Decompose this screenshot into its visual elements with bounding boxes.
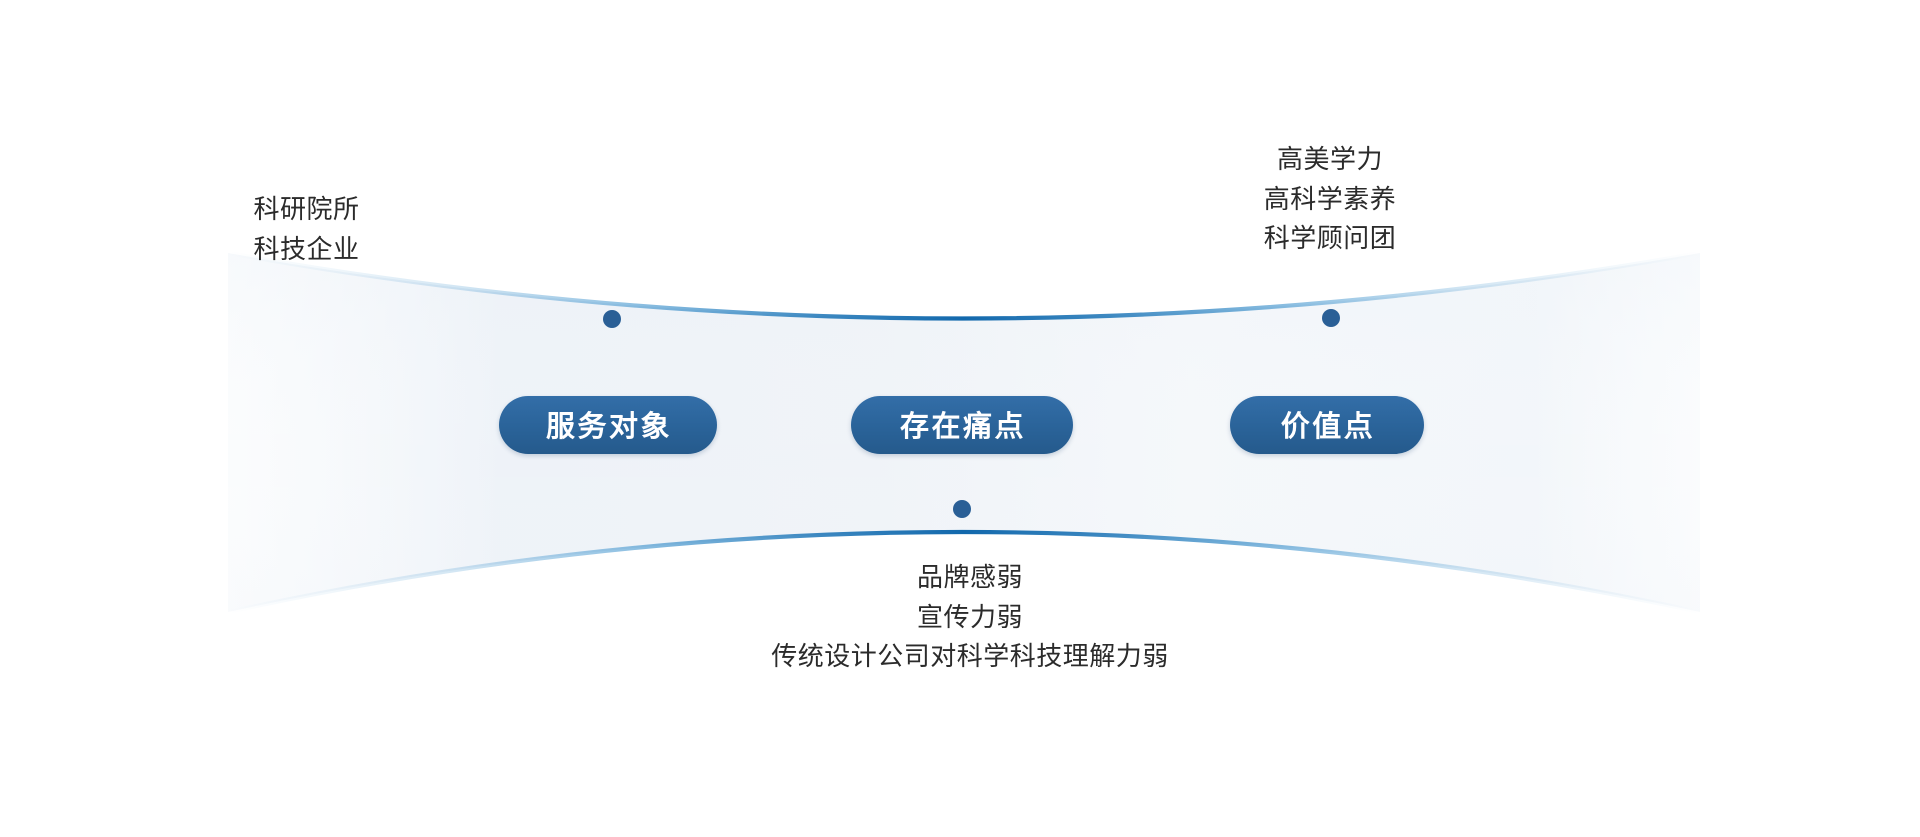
pill-button-service[interactable]: 服务对象 — [499, 396, 717, 454]
pill-value-label: 价值点 — [1279, 403, 1376, 445]
service-label-line-1: 科研院所 — [0, 190, 613, 230]
pain-label-line-3: 传统设计公司对科学科技理解力弱 — [580, 637, 1360, 677]
label-group-pain: 品牌感弱 宣传力弱 传统设计公司对科学科技理解力弱 — [580, 558, 1360, 677]
label-group-service: 科研院所 科技企业 — [0, 190, 1225, 269]
diagram-canvas: 科研院所 科技企业 高美学力 高科学素养 科学顾问团 品牌感弱 宣传力弱 传统设… — [0, 0, 1920, 837]
service-label-line-2: 科技企业 — [0, 230, 613, 270]
node-dot-pain[interactable] — [953, 500, 971, 518]
pill-pain-label: 存在痛点 — [898, 403, 1026, 445]
pain-label-line-2: 宣传力弱 — [580, 598, 1360, 638]
node-dot-service[interactable] — [603, 310, 621, 328]
node-dot-value[interactable] — [1322, 309, 1340, 327]
label-group-value: 高美学力 高科学素养 科学顾问团 — [1150, 140, 1510, 259]
pill-button-value[interactable]: 价值点 — [1230, 396, 1424, 454]
value-label-line-1: 高美学力 — [1150, 140, 1510, 180]
pill-service-label: 服务对象 — [544, 403, 672, 445]
pill-button-pain[interactable]: 存在痛点 — [851, 396, 1073, 454]
value-label-line-2: 高科学素养 — [1150, 180, 1510, 220]
value-label-line-3: 科学顾问团 — [1150, 219, 1510, 259]
pain-label-line-1: 品牌感弱 — [580, 558, 1360, 598]
